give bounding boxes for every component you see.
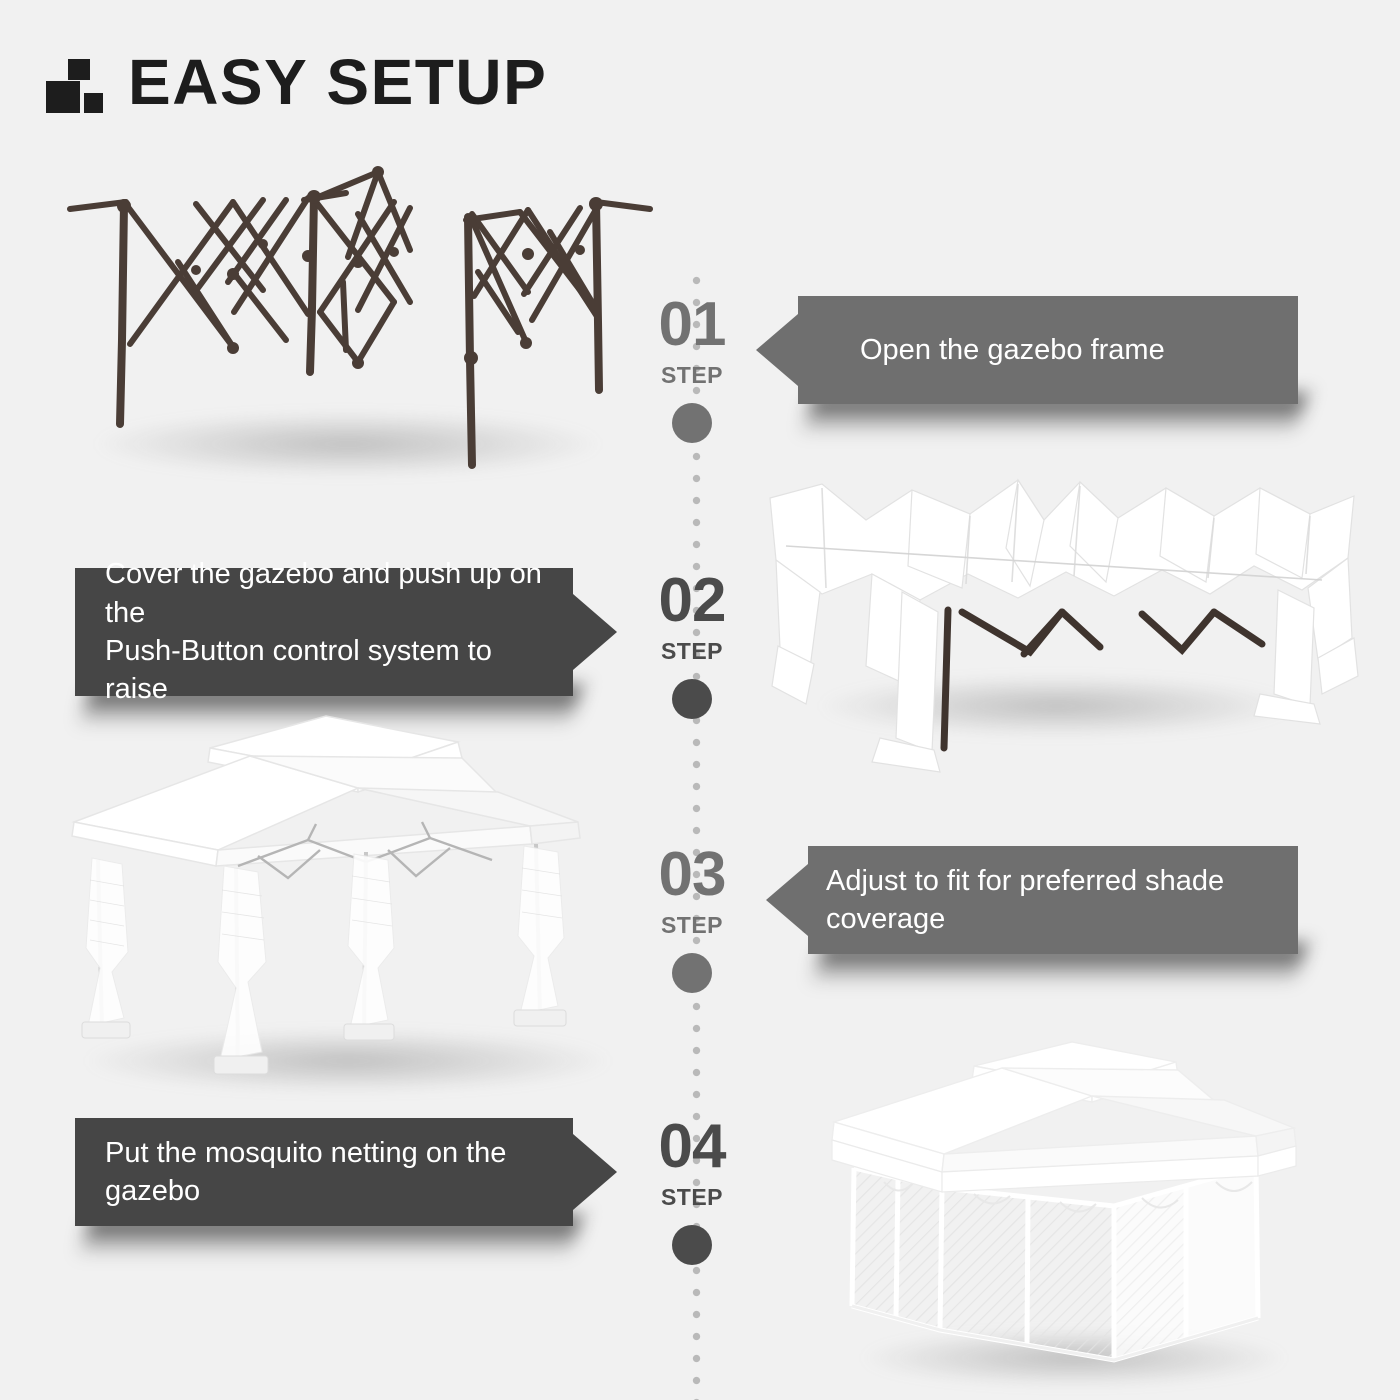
step-bullet-02 (672, 679, 712, 719)
step-bullet-01 (672, 403, 712, 443)
step-marker-03: 03 STEP (612, 844, 772, 993)
step-3-image-gazebo-raised (58, 700, 648, 1110)
callout-text-02: Cover the gazebo and push up on thePush-… (105, 555, 551, 708)
infographic-canvas: EASY SETUP (0, 0, 1400, 1400)
step-word-01: STEP (612, 362, 772, 389)
callout-step-02[interactable]: Cover the gazebo and push up on thePush-… (75, 568, 573, 696)
three-squares-logo-icon (46, 55, 106, 113)
step-word-02: STEP (612, 638, 772, 665)
callout-text-04: Put the mosquito netting on the gazebo (105, 1134, 553, 1211)
step-number-01: 01 (612, 294, 772, 356)
callout-step-01[interactable]: Open the gazebo frame (798, 296, 1298, 404)
step-number-03: 03 (612, 844, 772, 906)
callout-text-02-line1: Cover the gazebo and push up on the (105, 558, 542, 628)
step-word-04: STEP (612, 1184, 772, 1211)
page-header: EASY SETUP (46, 52, 547, 113)
step-2-image-canopy-draped (762, 462, 1362, 782)
step-number-04: 04 (612, 1116, 772, 1178)
step-marker-04: 04 STEP (612, 1116, 772, 1265)
step-bullet-03 (672, 953, 712, 993)
callout-text-02-line2: Push-Button control system to raise (105, 635, 492, 705)
step-number-02: 02 (612, 570, 772, 632)
page-title: EASY SETUP (128, 52, 547, 113)
step-word-03: STEP (612, 912, 772, 939)
callout-text-01: Open the gazebo frame (860, 331, 1165, 369)
step-1-image-gazebo-frame (58, 162, 658, 502)
callout-text-03: Adjust to fit for preferred shade covera… (826, 862, 1284, 939)
callout-step-04[interactable]: Put the mosquito netting on the gazebo (75, 1118, 573, 1226)
callout-step-03[interactable]: Adjust to fit for preferred shade covera… (808, 846, 1298, 954)
step-marker-02: 02 STEP (612, 570, 772, 719)
step-marker-01: 01 STEP (612, 294, 772, 443)
step-bullet-04 (672, 1225, 712, 1265)
step-4-image-mosquito-netting (824, 1030, 1344, 1400)
